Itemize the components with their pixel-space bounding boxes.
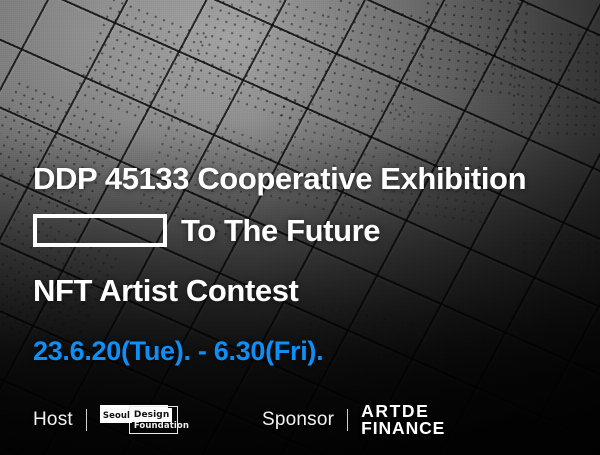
headline-line-2: To The Future xyxy=(33,214,380,247)
exhibition-poster: DDP 45133 Cooperative Exhibition To The … xyxy=(0,0,600,455)
sdf-word-seoul: Seoul xyxy=(100,410,132,423)
host-separator xyxy=(86,409,87,431)
poster-content: DDP 45133 Cooperative Exhibition To The … xyxy=(0,0,600,455)
artde-finance-logo: ARTDE FINANCE xyxy=(361,403,445,437)
seoul-design-foundation-logo: Seoul Design Foundation xyxy=(100,405,178,435)
sponsor-group: Sponsor ARTDE FINANCE xyxy=(262,403,445,437)
headline-line-2-label: To The Future xyxy=(181,215,380,246)
redacted-placeholder-box xyxy=(33,214,167,247)
host-label: Host xyxy=(33,409,73,431)
sponsor-label: Sponsor xyxy=(262,409,334,431)
headline-line-3: NFT Artist Contest xyxy=(33,275,298,306)
sdf-word-foundation: Foundation xyxy=(131,420,192,433)
poster-footer: Host Seoul Design Foundation Sponsor ART… xyxy=(0,398,600,442)
artde-logo-line-2: FINANCE xyxy=(361,420,445,437)
sponsor-separator xyxy=(347,409,348,431)
headline-line-1: DDP 45133 Cooperative Exhibition xyxy=(33,163,526,194)
event-date-range: 23.6.20(Tue). - 6.30(Fri). xyxy=(33,338,323,365)
host-group: Host Seoul Design Foundation xyxy=(33,405,178,435)
